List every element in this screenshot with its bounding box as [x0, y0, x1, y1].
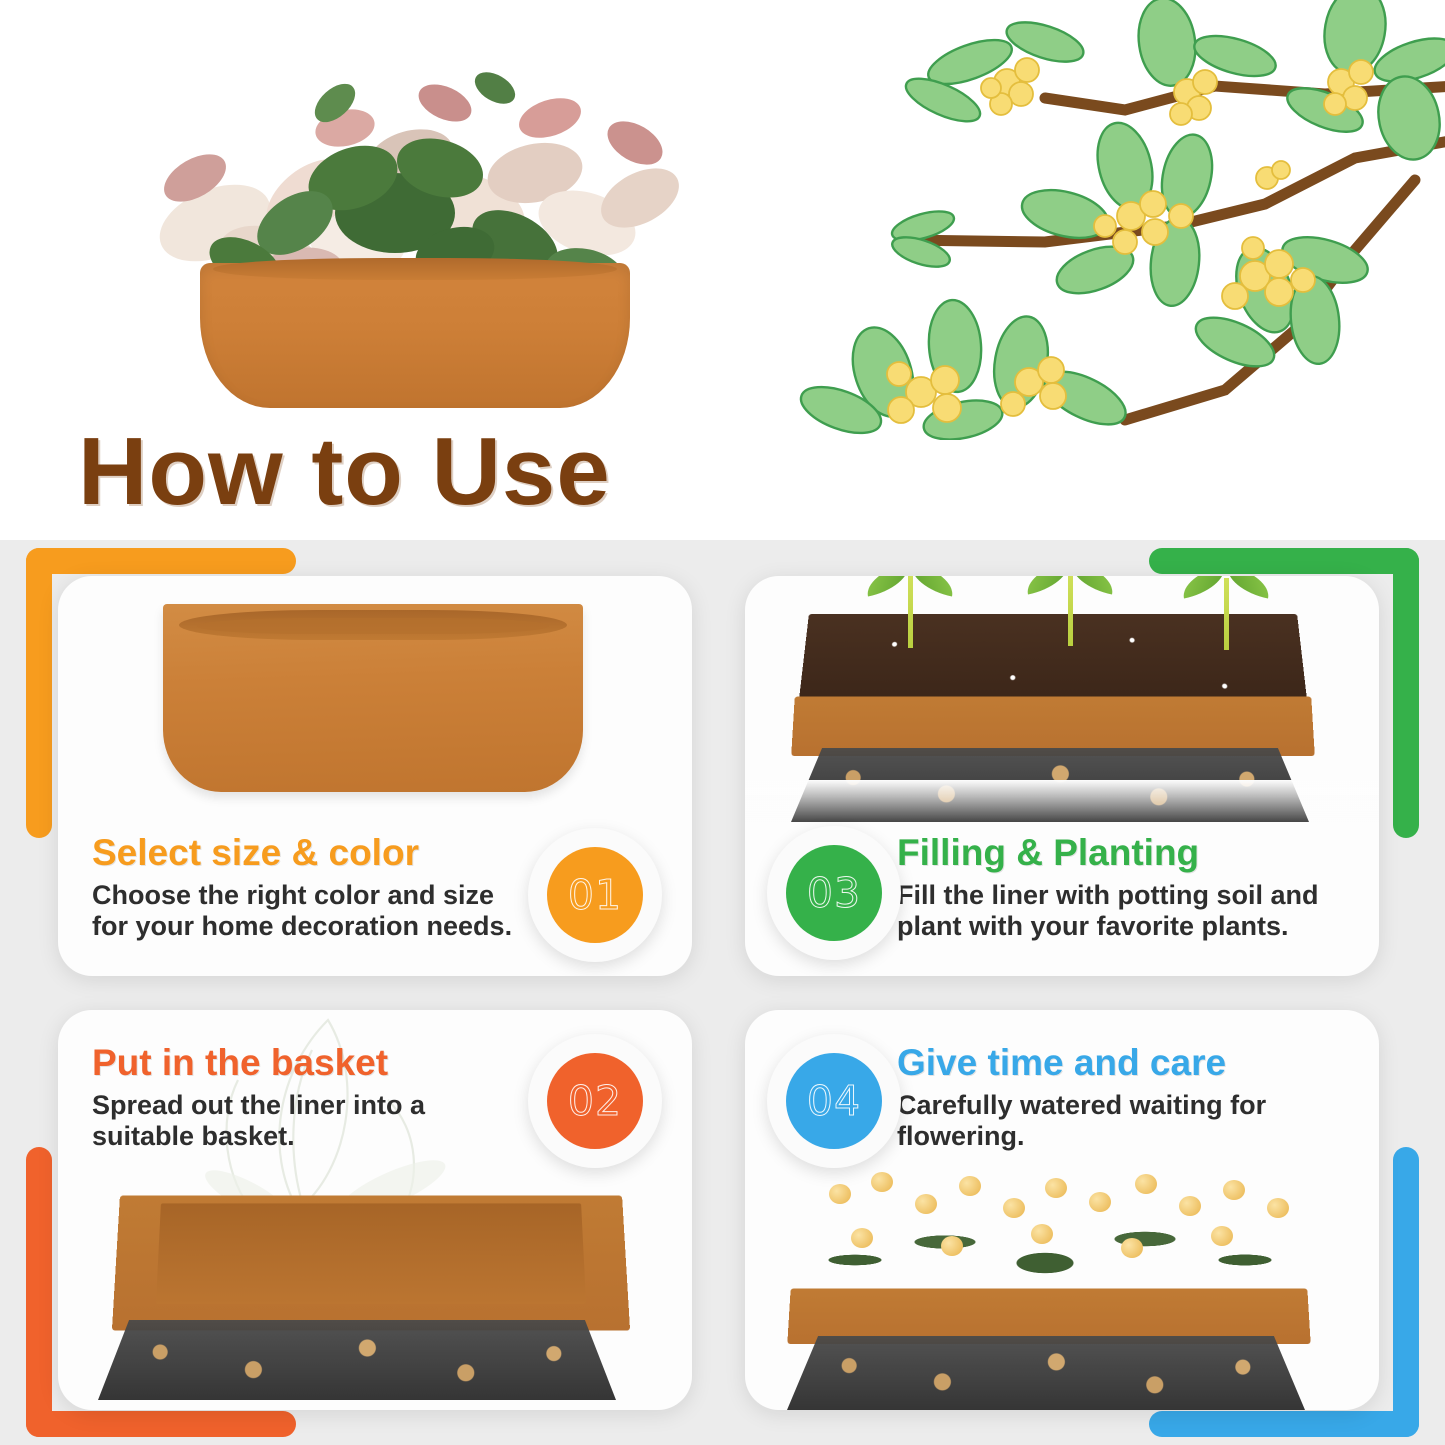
hero-banner: How to Use	[0, 0, 1445, 540]
liner-rim	[791, 696, 1315, 755]
metal-basket-frame	[787, 1336, 1305, 1410]
seedling-1	[865, 576, 955, 648]
step-04-badge-circle: 04	[786, 1053, 882, 1149]
step-02-number: 02	[568, 1077, 622, 1125]
step-03-badge-circle: 03	[786, 845, 882, 941]
step-02-description: Spread out the liner into a suitable bas…	[92, 1090, 562, 1153]
step-02-heading: Put in the basket	[92, 1044, 562, 1083]
step-04-number: 04	[807, 1077, 861, 1125]
step-04-badge: 04	[767, 1034, 901, 1168]
step-03-text: Filling & Planting Fill the liner with p…	[897, 834, 1367, 942]
step-01-number: 01	[568, 871, 622, 919]
step-01-heading: Select size & color	[92, 834, 562, 873]
page-title: How to Use	[78, 424, 611, 520]
metal-basket-frame	[98, 1320, 616, 1400]
step-01-image	[58, 576, 692, 826]
branch-svg	[795, 0, 1445, 440]
step-02-text: Put in the basket Spread out the liner i…	[92, 1044, 562, 1152]
step-01-description: Choose the right color and size for your…	[92, 880, 562, 943]
seedling-2	[1025, 576, 1115, 646]
step-03-badge: 03	[767, 826, 901, 960]
step-04-heading: Give time and care	[897, 1044, 1367, 1083]
seedling-3	[1181, 576, 1271, 650]
step-02-badge-circle: 02	[547, 1053, 643, 1149]
step-03-heading: Filling & Planting	[897, 834, 1367, 873]
step-card-03[interactable]: 03 Filling & Planting Fill the liner wit…	[745, 576, 1379, 976]
step-02-image	[58, 1170, 692, 1410]
osmanthus-branch-illustration	[795, 0, 1445, 440]
liner-in-basket	[112, 1196, 630, 1331]
step-03-number: 03	[807, 869, 861, 917]
step-01-badge: 01	[528, 828, 662, 962]
step-card-02[interactable]: Put in the basket Spread out the liner i…	[58, 1010, 692, 1410]
step-04-text: Give time and care Carefully watered wai…	[897, 1044, 1367, 1152]
step-03-image	[745, 576, 1379, 826]
hero-planter-image	[95, 8, 735, 418]
terracotta-liner-empty	[163, 604, 583, 792]
step-02-badge: 02	[528, 1034, 662, 1168]
step-card-04[interactable]: 04 Give time and care Carefully watered …	[745, 1010, 1379, 1410]
step-04-image	[745, 1170, 1379, 1410]
step-03-description: Fill the liner with potting soil and pla…	[897, 880, 1367, 943]
hero-pot-body	[200, 263, 630, 408]
step-01-text: Select size & color Choose the right col…	[92, 834, 562, 942]
step-01-badge-circle: 01	[547, 847, 643, 943]
liner-rim	[787, 1288, 1310, 1343]
step-04-description: Carefully watered waiting for flowering.	[897, 1090, 1367, 1153]
step-card-01[interactable]: Select size & color Choose the right col…	[58, 576, 692, 976]
steps-board: Select size & color Choose the right col…	[0, 540, 1445, 1445]
hero-pot-rim	[213, 258, 617, 280]
